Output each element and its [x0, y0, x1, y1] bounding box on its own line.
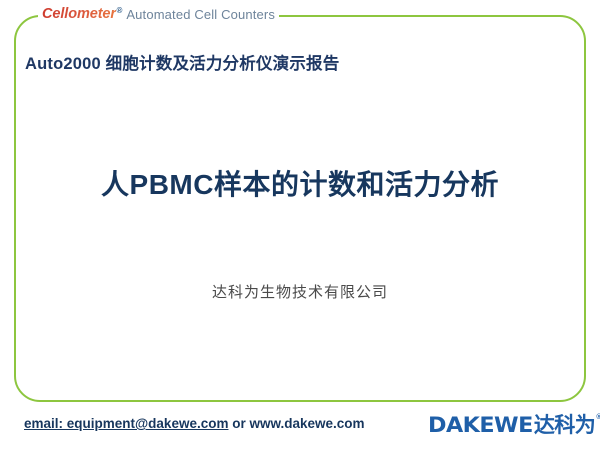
dakewe-latin-wordmark: DAKEWE — [428, 415, 533, 436]
footer-email-link[interactable]: email: equipment@dakewe.com — [24, 416, 228, 431]
footer-contact-line: email: equipment@dakewe.com or www.dakew… — [24, 416, 365, 431]
footer-website-text[interactable]: www.dakewe.com — [250, 416, 365, 431]
frame-logo-gap — [52, 23, 248, 37]
dakewe-registered-trademark-icon: ® — [596, 414, 600, 421]
registered-trademark-icon: ® — [116, 7, 122, 15]
cellometer-tagline: Automated Cell Counters — [126, 8, 275, 21]
dakewe-company-logo: DAKEWE 达科为 ® — [428, 410, 600, 440]
cellometer-brand-logo: Cellometer ® Automated Cell Counters — [38, 5, 279, 24]
footer-connector-text: or — [228, 416, 249, 431]
dakewe-cjk-wordmark: 达科为 — [534, 415, 596, 436]
cellometer-wordmark: Cellometer — [42, 7, 116, 22]
slide-main-title: 人PBMC样本的计数和活力分析 — [0, 163, 600, 203]
slide-subtitle-heading: Auto2000 细胞计数及活力分析仪演示报告 — [25, 50, 339, 74]
slide-organization-name: 达科为生物技术有限公司 — [0, 281, 600, 302]
